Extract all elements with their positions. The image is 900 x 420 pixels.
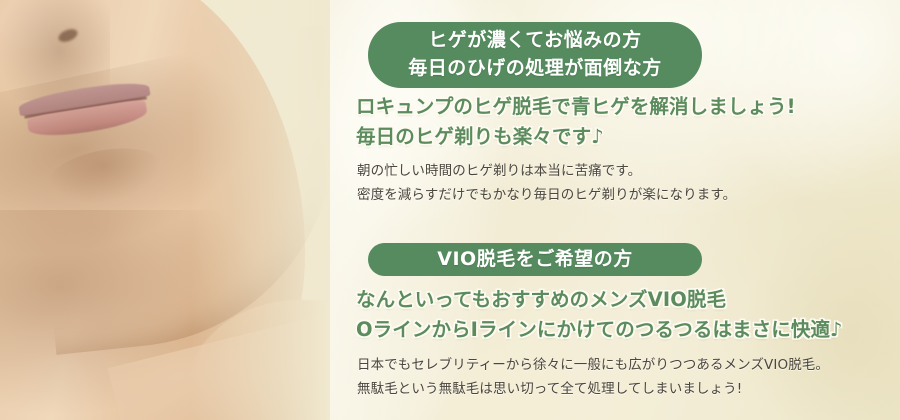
headline-vio: なんといってもおすすめのメンズVIO脱毛 OラインからIラインにかけてのつるつる… <box>356 285 843 344</box>
body-line: 朝の忙しい時間のヒゲ剃りは本当に苦痛です。 <box>357 159 736 183</box>
headline-line: OラインからIラインにかけてのつるつるはまさに快適♪ <box>356 315 843 345</box>
photo-edge-fade <box>0 0 330 420</box>
promo-banner: ヒゲが濃くてお悩みの方 毎日のひげの処理が面倒な方 ロキュンプのヒゲ脱毛で青ヒゲ… <box>0 0 900 420</box>
headline-line: 毎日のヒゲ剃りも楽々です♪ <box>356 122 796 152</box>
headline-beard: ロキュンプのヒゲ脱毛で青ヒゲを解消しましょう! 毎日のヒゲ剃りも楽々です♪ <box>356 92 796 151</box>
section-badge-vio: VIO脱毛をご希望の方 <box>368 243 702 276</box>
body-line: 無駄毛という無駄毛は思い切って全て処理してしまいましょう! <box>357 377 829 401</box>
headline-line: なんといってもおすすめのメンズVIO脱毛 <box>356 285 843 315</box>
body-copy-vio: 日本でもセレブリティーから徐々に一般にも広がりつつあるメンズVIO脱毛。 無駄毛… <box>357 353 829 401</box>
badge-line: VIO脱毛をご希望の方 <box>437 249 632 270</box>
body-line: 日本でもセレブリティーから徐々に一般にも広がりつつあるメンズVIO脱毛。 <box>357 353 829 377</box>
badge-line: ヒゲが濃くてお悩みの方 <box>408 27 662 55</box>
headline-line: ロキュンプのヒゲ脱毛で青ヒゲを解消しましょう! <box>356 92 796 122</box>
body-copy-beard: 朝の忙しい時間のヒゲ剃りは本当に苦痛です。 密度を減らすだけでもかなり毎日のヒゲ… <box>357 159 736 207</box>
body-line: 密度を減らすだけでもかなり毎日のヒゲ剃りが楽になります。 <box>357 183 736 207</box>
model-photo <box>0 0 330 420</box>
content-column: ヒゲが濃くてお悩みの方 毎日のひげの処理が面倒な方 ロキュンプのヒゲ脱毛で青ヒゲ… <box>356 0 900 420</box>
section-badge-beard: ヒゲが濃くてお悩みの方 毎日のひげの処理が面倒な方 <box>368 22 702 88</box>
badge-line: 毎日のひげの処理が面倒な方 <box>408 55 662 83</box>
